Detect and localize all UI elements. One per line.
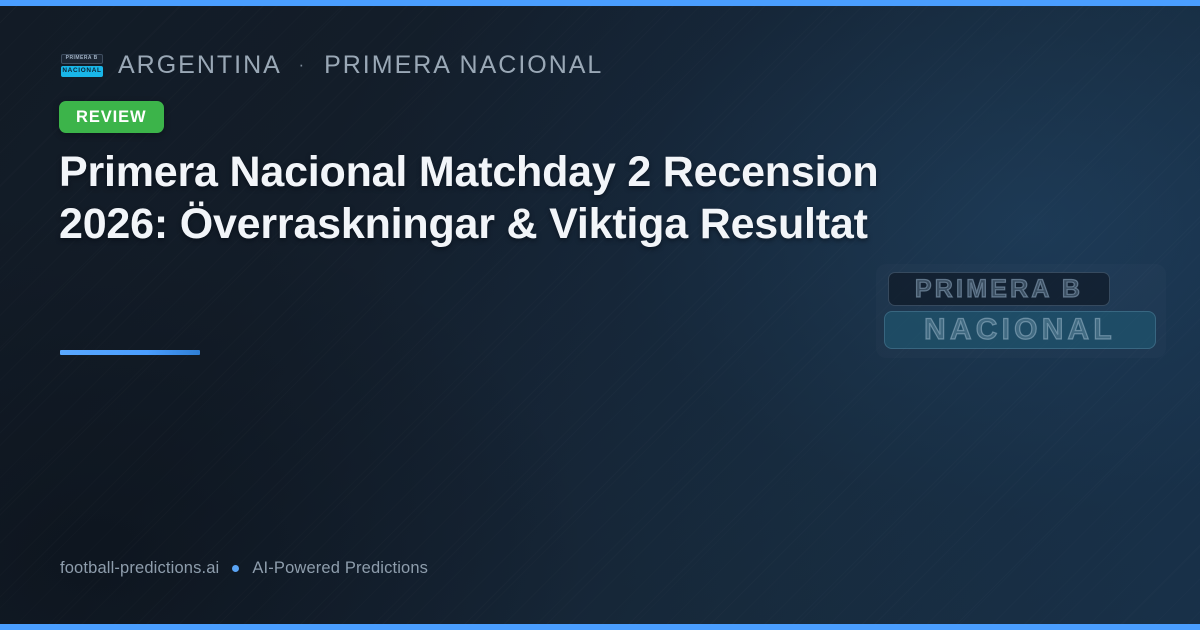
watermark-line1-box: PRIMERA B (888, 272, 1110, 306)
bottom-accent-bar (0, 624, 1200, 630)
watermark-line2-box: NACIONAL (884, 311, 1156, 349)
status-badge-label: REVIEW (76, 109, 147, 126)
watermark-line2-label: NACIONAL (924, 315, 1116, 345)
top-accent-bar (0, 0, 1200, 6)
breadcrumb-country: ARGENTINA (118, 51, 280, 79)
watermark-line1-label: PRIMERA B (915, 277, 1083, 302)
status-badge: REVIEW (59, 101, 164, 133)
logo-line1-box: PRIMERA B (61, 54, 103, 64)
logo-line1-label: PRIMERA B (66, 56, 98, 61)
breadcrumb: PRIMERA B NACIONAL ARGENTINA · PRIMERA N… (60, 48, 603, 82)
logo-line2-label: NACIONAL (62, 68, 101, 74)
primera-b-nacional-watermark-icon: PRIMERA B NACIONAL (876, 264, 1166, 358)
page-title: Primera Nacional Matchday 2 Recension 20… (59, 146, 964, 250)
primera-b-nacional-logo-icon: PRIMERA B NACIONAL (60, 53, 104, 78)
breadcrumb-text: ARGENTINA · PRIMERA NACIONAL (118, 51, 603, 80)
footer-separator-dot (232, 565, 239, 572)
footer-site-name: football-predictions.ai (60, 560, 219, 577)
footer-tagline: AI-Powered Predictions (252, 560, 428, 577)
breadcrumb-separator: · (298, 55, 306, 75)
breadcrumb-league: PRIMERA NACIONAL (324, 51, 603, 79)
logo-line2-box: NACIONAL (61, 66, 103, 77)
footer: football-predictions.ai AI-Powered Predi… (60, 557, 428, 579)
title-accent-rule (60, 350, 200, 355)
social-card-canvas: PRIMERA B NACIONAL ARGENTINA · PRIMERA N… (0, 0, 1200, 630)
